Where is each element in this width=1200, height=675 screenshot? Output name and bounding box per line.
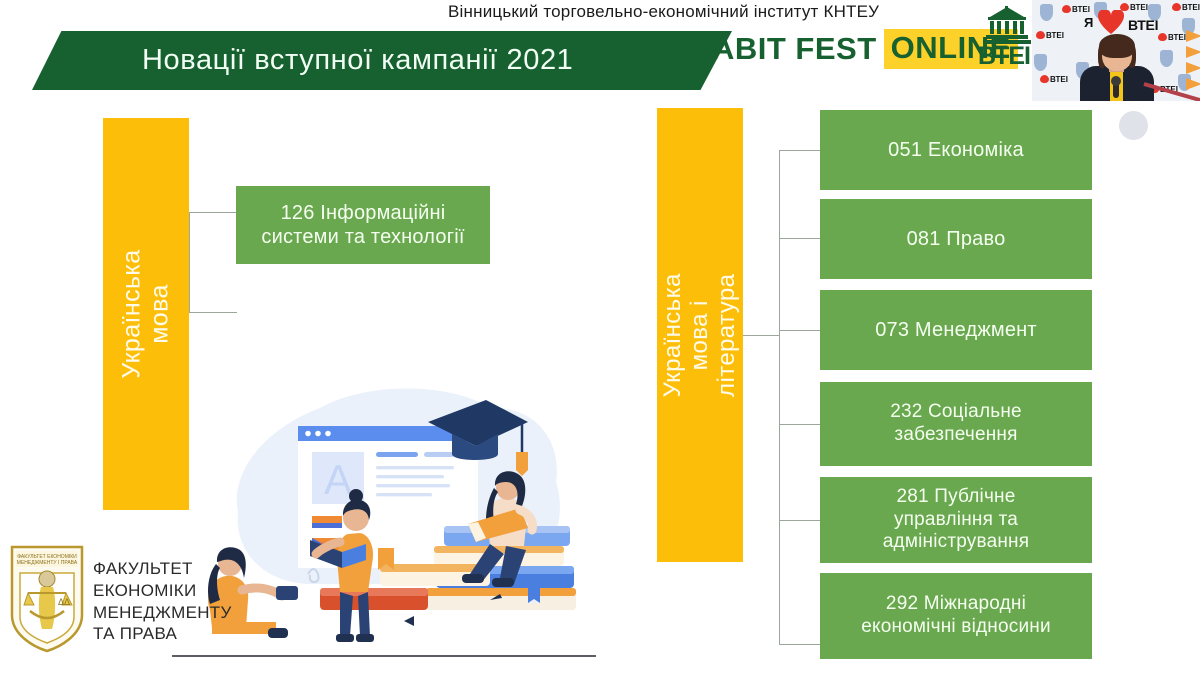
program-card-126[interactable]: 126 Інформаційні системи та технології bbox=[236, 186, 490, 264]
program-card-081[interactable]: 081 Право bbox=[820, 199, 1092, 279]
connector-line bbox=[779, 520, 820, 521]
abit-fest-online-logo: ABIT FEST ONLINE bbox=[712, 29, 1018, 69]
svg-text:ΔΔ: ΔΔ bbox=[58, 597, 70, 607]
presenter-avatar bbox=[1080, 36, 1154, 101]
subject-bar-label: Українська мова і література bbox=[660, 273, 741, 397]
backdrop-crest-icon bbox=[1040, 4, 1053, 21]
backdrop-crest-icon bbox=[1160, 50, 1173, 67]
connector-line bbox=[779, 330, 820, 331]
subject-bar-ukrainian-language-literature: Українська мова і література bbox=[657, 108, 743, 562]
program-card-label: 073 Менеджмент bbox=[875, 318, 1037, 342]
program-card-232[interactable]: 232 Соціальне забезпечення bbox=[820, 382, 1092, 466]
slide-title: Новації вступної кампанії 2021 bbox=[142, 44, 573, 77]
backdrop-ya-text: Я bbox=[1084, 15, 1093, 30]
program-card-label: 126 Інформаційні системи та технології bbox=[261, 201, 464, 249]
program-card-label: 232 Соціальне забезпечення bbox=[890, 401, 1022, 447]
slide-canvas: Вінницький торговельно-економічний інсти… bbox=[0, 0, 1200, 675]
illustration-baseline bbox=[172, 655, 596, 657]
backdrop-btei-tag: ВТЕІ bbox=[1062, 4, 1090, 14]
faculty-emblem: ФАКУЛЬТЕТ ЕКОНОМІКИ МЕНЕДЖМЕНТУ І ПРАВА … bbox=[8, 543, 86, 655]
subject-bar-ukrainian-language: Українська мова bbox=[103, 118, 189, 510]
connector-line bbox=[189, 212, 190, 313]
connector-line bbox=[189, 212, 236, 213]
subject-bar-label: Українська мова bbox=[118, 249, 174, 378]
program-card-073[interactable]: 073 Менеджмент bbox=[820, 290, 1092, 370]
connector-line bbox=[779, 424, 820, 425]
connector-line bbox=[779, 150, 820, 151]
backdrop-btei-tag: ВТЕІ bbox=[1172, 2, 1200, 12]
institute-title: Вінницький торговельно-економічний інсти… bbox=[448, 2, 879, 22]
backdrop-crest-icon bbox=[1034, 54, 1047, 71]
svg-text:МЕНЕДЖМЕНТУ І ПРАВА: МЕНЕДЖМЕНТУ І ПРАВА bbox=[17, 560, 78, 566]
program-card-label: 051 Економіка bbox=[888, 138, 1024, 162]
building-icon bbox=[980, 6, 1034, 46]
program-card-label: 292 Міжнародні економічні відносини bbox=[861, 593, 1051, 639]
connector-line bbox=[779, 644, 820, 645]
svg-text:A: A bbox=[324, 456, 352, 503]
orange-decor bbox=[1182, 28, 1200, 90]
connector-spine bbox=[779, 150, 780, 644]
presenter-video-tile[interactable]: ВТЕІ ВТЕІ ВТЕІ ВТЕІ ВТЕІ ВТЕІ ВТЕІ Я ВТЕ… bbox=[1032, 0, 1200, 101]
btei-institute-logo: ВТЕІ bbox=[978, 6, 1036, 78]
connector-line bbox=[189, 312, 237, 313]
backdrop-btei-tag: ВТЕІ bbox=[1120, 2, 1148, 12]
slide-title-banner: Новації вступної кампанії 2021 bbox=[32, 31, 732, 90]
backdrop-btei-tag: ВТЕІ bbox=[1036, 30, 1064, 40]
students-learning-illustration: A bbox=[190, 378, 630, 668]
abit-fest-label: ABIT FEST bbox=[712, 31, 877, 67]
program-card-label: 281 Публічне управління та адмініструван… bbox=[883, 486, 1029, 554]
program-card-051[interactable]: 051 Економіка bbox=[820, 110, 1092, 190]
program-card-281[interactable]: 281 Публічне управління та адмініструван… bbox=[820, 477, 1092, 563]
connector-line bbox=[779, 238, 820, 239]
connector-line bbox=[743, 335, 779, 336]
backdrop-btei-text: ВТЕІ bbox=[1128, 17, 1158, 33]
btei-logo-text: ВТЕІ bbox=[978, 44, 1036, 69]
program-card-292[interactable]: 292 Міжнародні економічні відносини bbox=[820, 573, 1092, 659]
backdrop-btei-tag: ВТЕІ bbox=[1040, 74, 1068, 84]
video-status-dot bbox=[1119, 111, 1148, 140]
faculty-name-text: ФАКУЛЬТЕТ ЕКОНОМІКИ МЕНЕДЖМЕНТУ ТА ПРАВА bbox=[93, 558, 232, 645]
program-card-label: 081 Право bbox=[907, 227, 1006, 251]
